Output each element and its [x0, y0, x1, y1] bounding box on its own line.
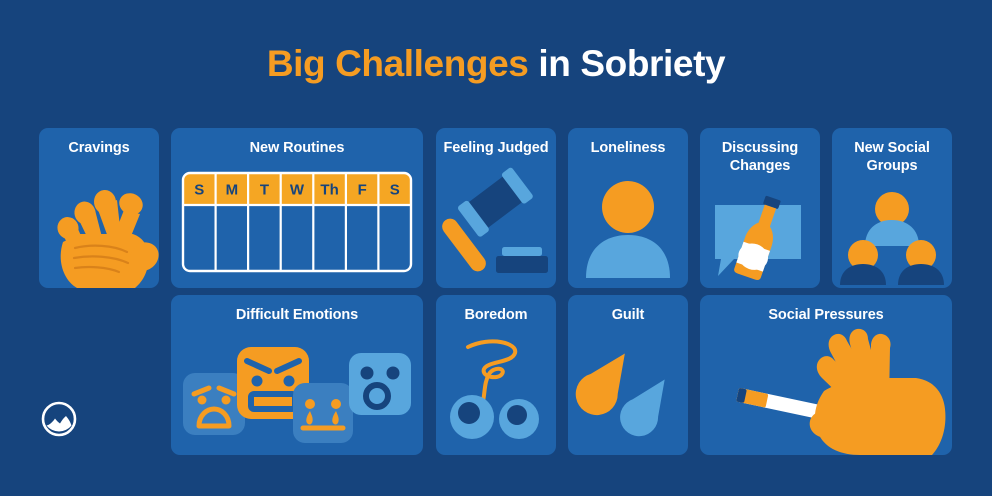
card-new-routines[interactable]: New Routines [171, 128, 423, 288]
infographic-canvas: Big Challenges in Sobriety Cravings [0, 0, 992, 496]
three-people-icon [832, 128, 952, 288]
svg-text:M: M [226, 182, 239, 199]
emoji-faces-icon [171, 295, 423, 455]
teardrops-icon [568, 295, 688, 455]
bored-eyes-squiggle-icon [436, 295, 556, 455]
page-title: Big Challenges in Sobriety [0, 42, 992, 86]
gavel-icon [436, 128, 556, 288]
hand-holding-cigarette-icon [700, 295, 952, 455]
card-discussing-changes[interactable]: Discussing Changes [700, 128, 820, 288]
weekly-calendar-icon: S M T W Th F S [171, 128, 423, 288]
clawing-hand-icon [39, 128, 159, 288]
card-social-pressures[interactable]: Social Pressures [700, 295, 952, 455]
card-feeling-judged[interactable]: Feeling Judged [436, 128, 556, 288]
page-title-highlight: Big Challenges [267, 43, 529, 84]
svg-text:W: W [290, 182, 305, 199]
card-loneliness[interactable]: Loneliness [568, 128, 688, 288]
speech-bubble-bottle-icon [700, 128, 820, 288]
svg-text:F: F [358, 182, 367, 199]
svg-text:S: S [194, 182, 204, 199]
svg-text:Th: Th [320, 182, 338, 199]
card-guilt[interactable]: Guilt [568, 295, 688, 455]
card-cravings[interactable]: Cravings [39, 128, 159, 288]
single-person-icon [568, 128, 688, 288]
card-new-social-groups[interactable]: New Social Groups [832, 128, 952, 288]
svg-text:S: S [390, 182, 400, 199]
svg-text:T: T [260, 182, 269, 199]
page-title-plain: in Sobriety [529, 43, 726, 84]
card-boredom[interactable]: Boredom [436, 295, 556, 455]
mountain-circle-logo [40, 400, 78, 438]
card-difficult-emotions[interactable]: Difficult Emotions [171, 295, 423, 455]
